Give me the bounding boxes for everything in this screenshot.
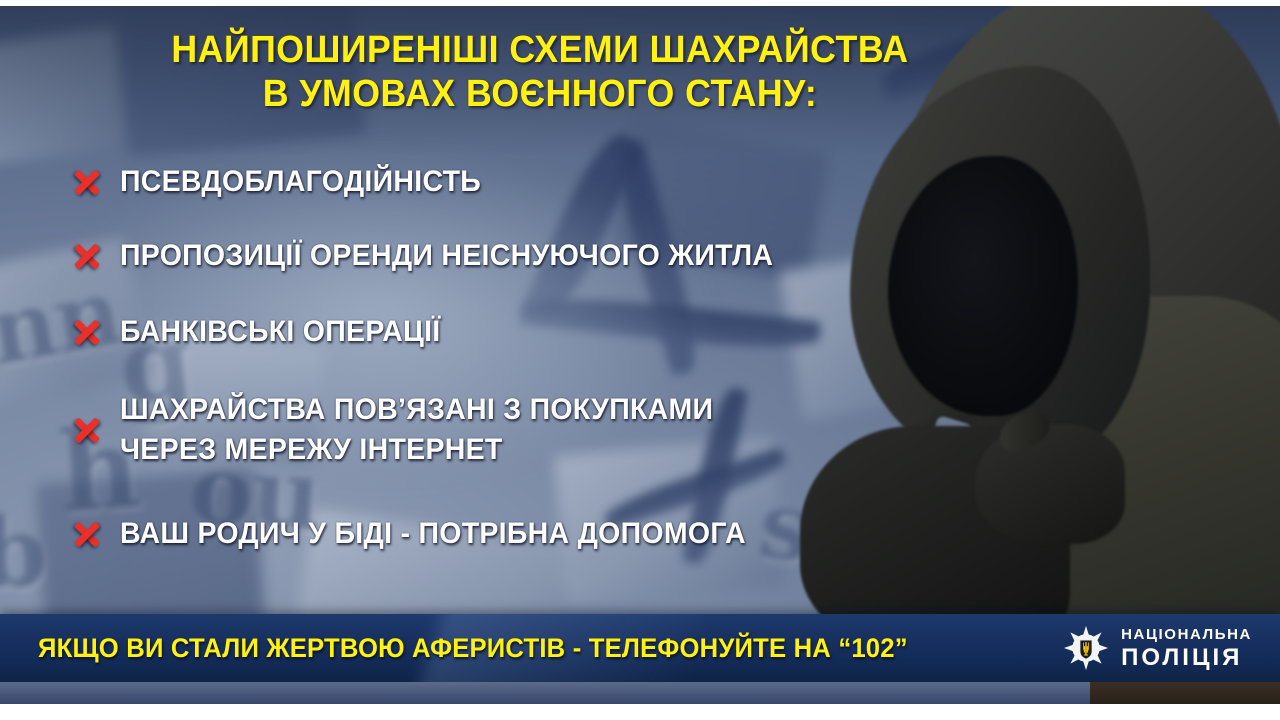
lower-background-band [0, 682, 1280, 704]
artwork-stage: nn g h ou b sk [0, 6, 1280, 704]
hotline-text: ЯКЩО ВИ СТАЛИ ЖЕРТВОЮ АФЕРИСТІВ - ТЕЛЕФО… [38, 633, 908, 663]
brand-wordmark: НАЦІОНАЛЬНА ПОЛІЦІЯ [1121, 627, 1252, 670]
list-item-line: ШАХРАЙСТВА ПОВ’ЯЗАНІ З ПОКУПКАМИ [120, 390, 713, 430]
list-item-line: ЧЕРЕЗ МЕРЕЖУ ІНТЕРНЕТ [120, 430, 713, 470]
scam-awareness-poster: nn g h ou b sk [0, 0, 1280, 720]
x-mark-icon [72, 241, 102, 271]
list-item-line: ВАШ РОДИЧ У БІДІ - ПОТРІБНА ДОПОМОГА [120, 514, 746, 554]
brand-line-2: ПОЛІЦІЯ [1121, 646, 1252, 670]
poster-title: НАЙПОШИРЕНІШІ СХЕМИ ШАХРАЙСТВА В УМОВАХ … [0, 28, 1080, 116]
list-item-text: ПСЕВДОБЛАГОДІЙНІСТЬ [120, 162, 500, 202]
lower-right-dark-corner [1090, 682, 1280, 704]
police-star-badge-icon [1063, 625, 1109, 671]
brand-line-1: НАЦІОНАЛЬНА [1121, 627, 1252, 642]
list-item: БАНКІВСЬКІ ОПЕРАЦІЇ [72, 312, 457, 352]
list-item-line: БАНКІВСЬКІ ОПЕРАЦІЇ [120, 312, 440, 352]
bottom-white-margin [0, 704, 1280, 720]
list-item-line: ПРОПОЗИЦІЇ ОРЕНДИ НЕІСНУЮЧОГО ЖИТЛА [120, 236, 773, 276]
x-mark-icon [72, 519, 102, 549]
glove-shape [975, 424, 1125, 544]
x-mark-icon [72, 167, 102, 197]
list-item: ВАШ РОДИЧ У БІДІ - ПОТРІБНА ДОПОМОГА [72, 514, 779, 554]
hotline-banner: ЯКЩО ВИ СТАЛИ ЖЕРТВОЮ АФЕРИСТІВ - ТЕЛЕФО… [0, 614, 1280, 682]
list-item: ПСЕВДОБЛАГОДІЙНІСТЬ [72, 162, 500, 202]
list-item: ШАХРАЙСТВА ПОВ’ЯЗАНІ З ПОКУПКАМИ ЧЕРЕЗ М… [72, 390, 745, 470]
title-line-2: В УМОВАХ ВОЄННОГО СТАНУ: [32, 72, 1047, 116]
list-item-text: БАНКІВСЬКІ ОПЕРАЦІЇ [120, 312, 457, 352]
x-mark-icon [72, 317, 102, 347]
x-mark-icon [72, 415, 102, 445]
list-item-text: ПРОПОЗИЦІЇ ОРЕНДИ НЕІСНУЮЧОГО ЖИТЛА [120, 236, 808, 276]
national-police-logo: НАЦІОНАЛЬНА ПОЛІЦІЯ [1063, 614, 1252, 682]
list-item: ПРОПОЗИЦІЇ ОРЕНДИ НЕІСНУЮЧОГО ЖИТЛА [72, 236, 808, 276]
list-item-line: ПСЕВДОБЛАГОДІЙНІСТЬ [120, 162, 481, 202]
list-item-text: ВАШ РОДИЧ У БІДІ - ПОТРІБНА ДОПОМОГА [120, 514, 779, 554]
title-line-1: НАЙПОШИРЕНІШІ СХЕМИ ШАХРАЙСТВА [32, 28, 1047, 72]
top-white-margin [0, 0, 1280, 6]
list-item-text: ШАХРАЙСТВА ПОВ’ЯЗАНІ З ПОКУПКАМИ ЧЕРЕЗ М… [120, 390, 745, 470]
